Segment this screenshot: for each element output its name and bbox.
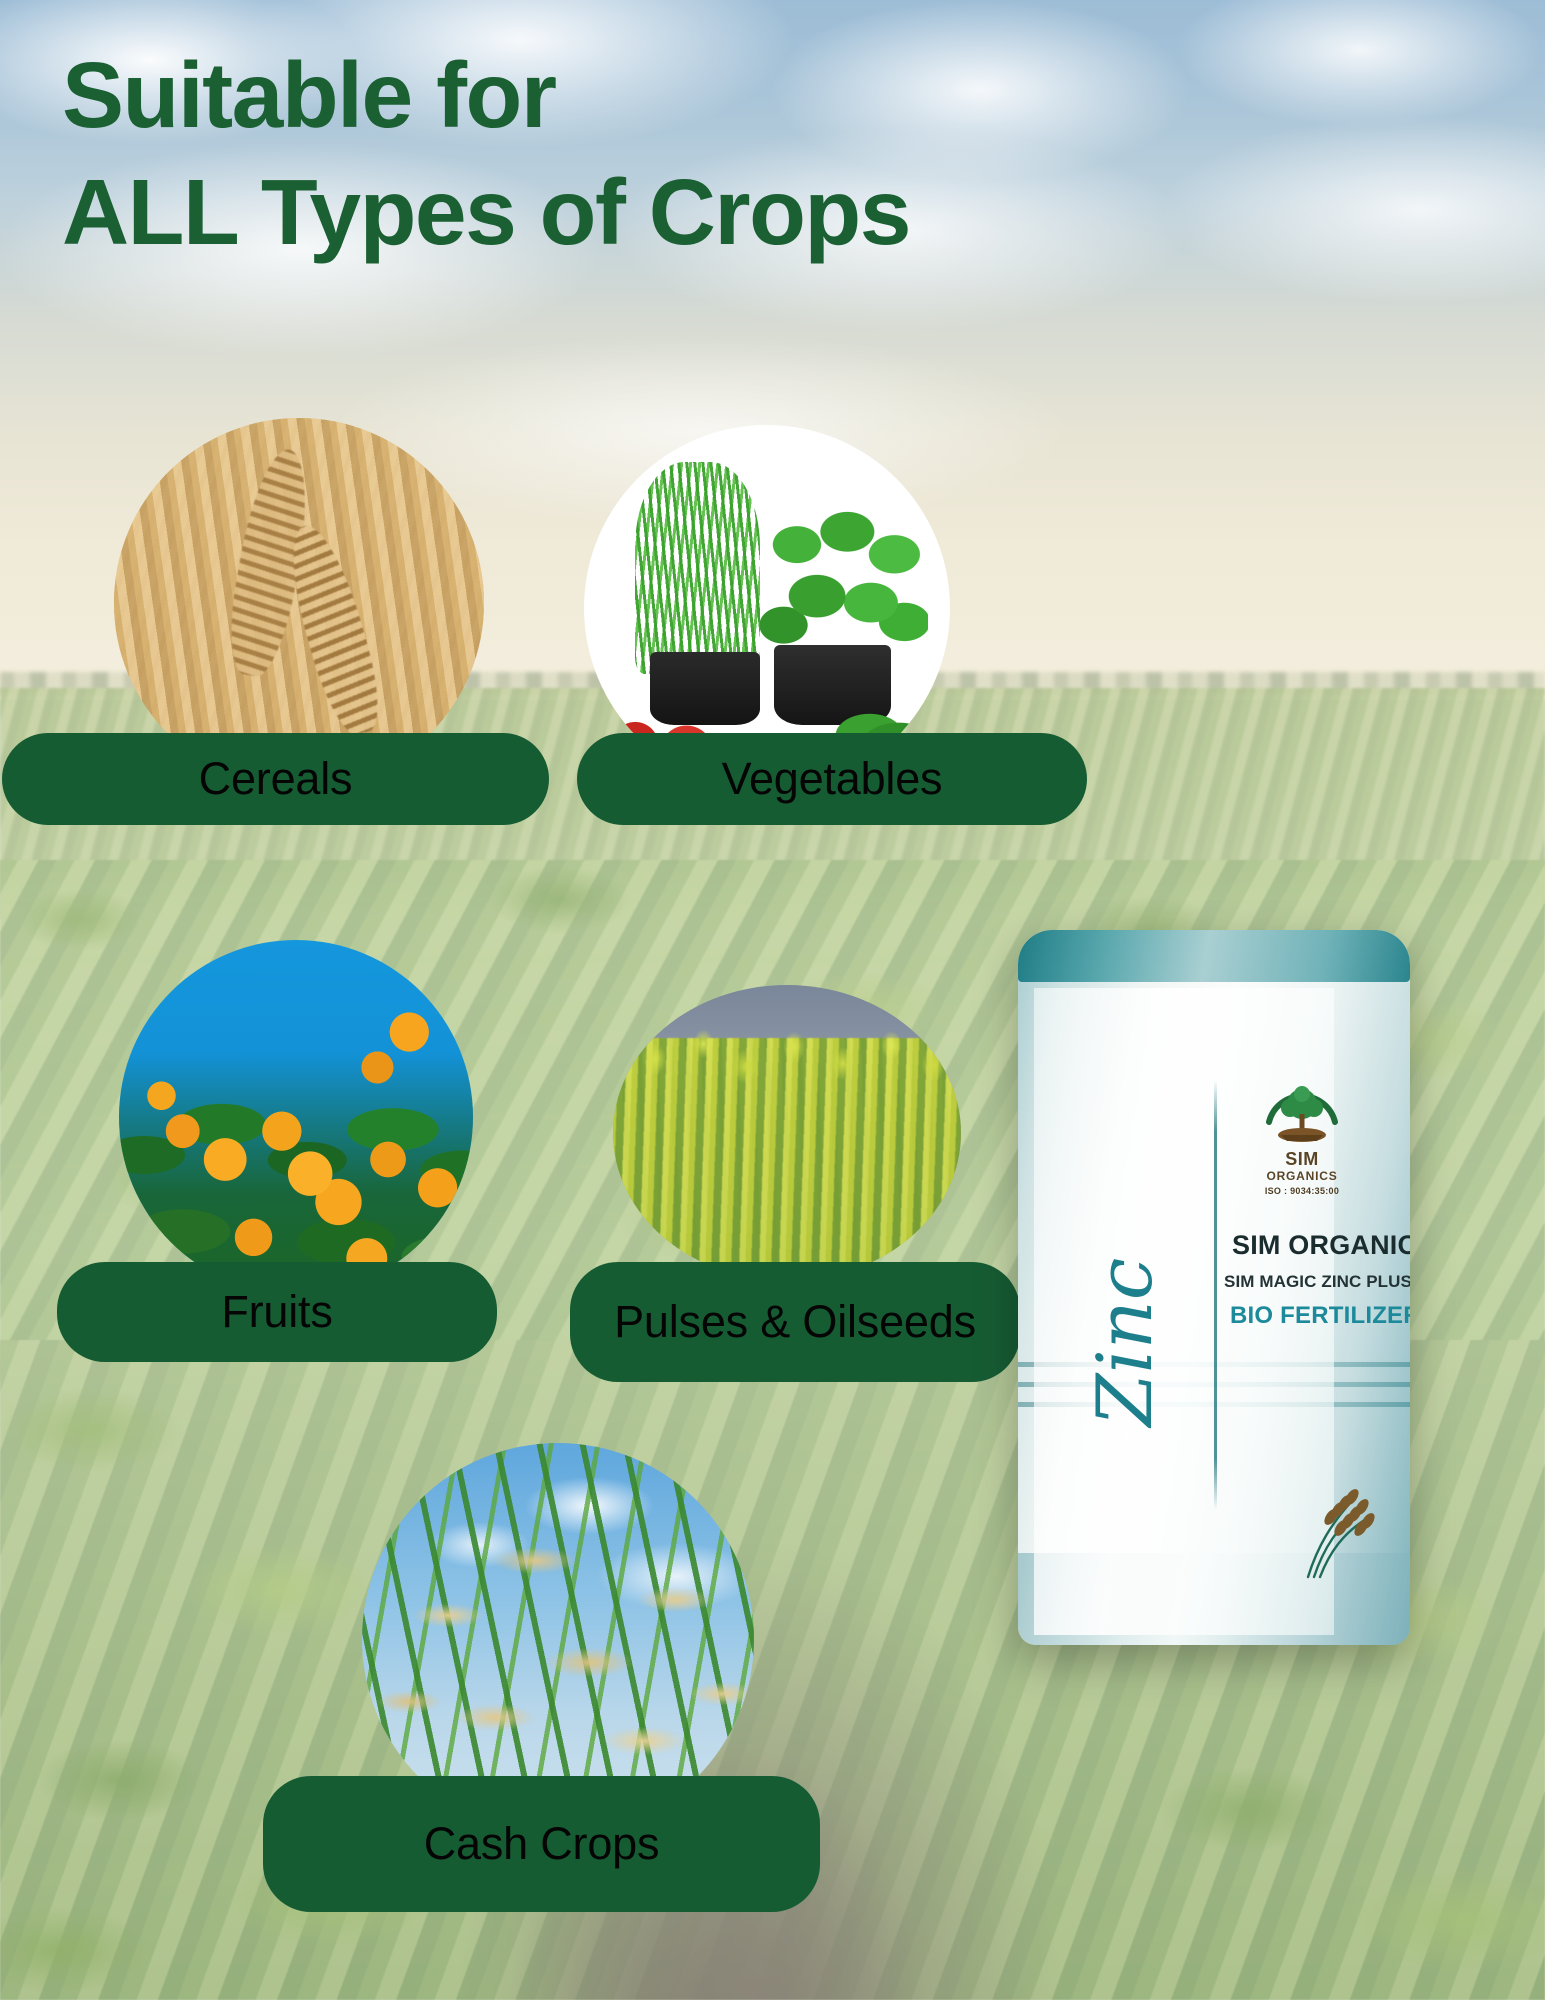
mustard-tops-icon (613, 1021, 961, 1098)
headline-line-1: Suitable for (62, 48, 1242, 143)
chives-plant-icon (635, 462, 759, 674)
basil-plant-icon (760, 506, 928, 667)
product-package[interactable]: SIM ORGANICS ISO : 9034:35:00 SIM ORGANI… (1018, 930, 1410, 1645)
zinc-script-text: Zinc (1083, 1227, 1203, 1457)
crop-label-pill-pulses-oilseeds[interactable]: Pulses & Oilseeds (570, 1262, 1020, 1382)
crop-label-cash-crops: Cash Crops (424, 1818, 660, 1870)
brand-logo-name-line-2: ORGANICS (1246, 1169, 1358, 1183)
product-type: BIO FERTILIZER (1230, 1302, 1398, 1330)
crop-label-pill-cash-crops[interactable]: Cash Crops (263, 1776, 820, 1912)
crop-image-fruits (119, 940, 473, 1294)
crop-label-pill-fruits[interactable]: Fruits (57, 1262, 497, 1362)
headline-line-2: ALL Types of Crops (62, 165, 1242, 260)
crop-label-vegetables: Vegetables (722, 753, 943, 805)
orange-tree-icon (119, 940, 473, 1294)
crop-label-pill-cereals[interactable]: Cereals (2, 733, 549, 825)
tree-logo-icon (1261, 1078, 1343, 1156)
wheat-sheaf-icon (1288, 1467, 1384, 1579)
pouch-vertical-rule (1214, 1080, 1217, 1510)
crop-image-pulses-oilseeds (613, 985, 961, 1281)
iso-certification-text: ISO : 9034:35:00 (1246, 1186, 1358, 1196)
crop-label-pulses-oilseeds: Pulses & Oilseeds (614, 1296, 976, 1348)
pouch-body: SIM ORGANICS ISO : 9034:35:00 SIM ORGANI… (1018, 930, 1410, 1645)
crop-label-cereals: Cereals (199, 753, 353, 805)
poster-canvas: Suitable for ALL Types of Crops Cereals … (0, 0, 1545, 2000)
brand-logo: SIM ORGANICS ISO : 9034:35:00 (1246, 1078, 1358, 1196)
crop-label-pill-vegetables[interactable]: Vegetables (577, 733, 1087, 825)
product-variant: SIM MAGIC ZINC PLUS (1224, 1272, 1404, 1292)
headline: Suitable for ALL Types of Crops (62, 48, 1242, 260)
mustard-field-icon (613, 985, 961, 1281)
product-brand-name: SIM ORGANICS (1232, 1230, 1396, 1261)
pouch-top-seal (1018, 930, 1410, 982)
crop-label-fruits: Fruits (221, 1286, 332, 1338)
oranges-icon (119, 940, 473, 1294)
